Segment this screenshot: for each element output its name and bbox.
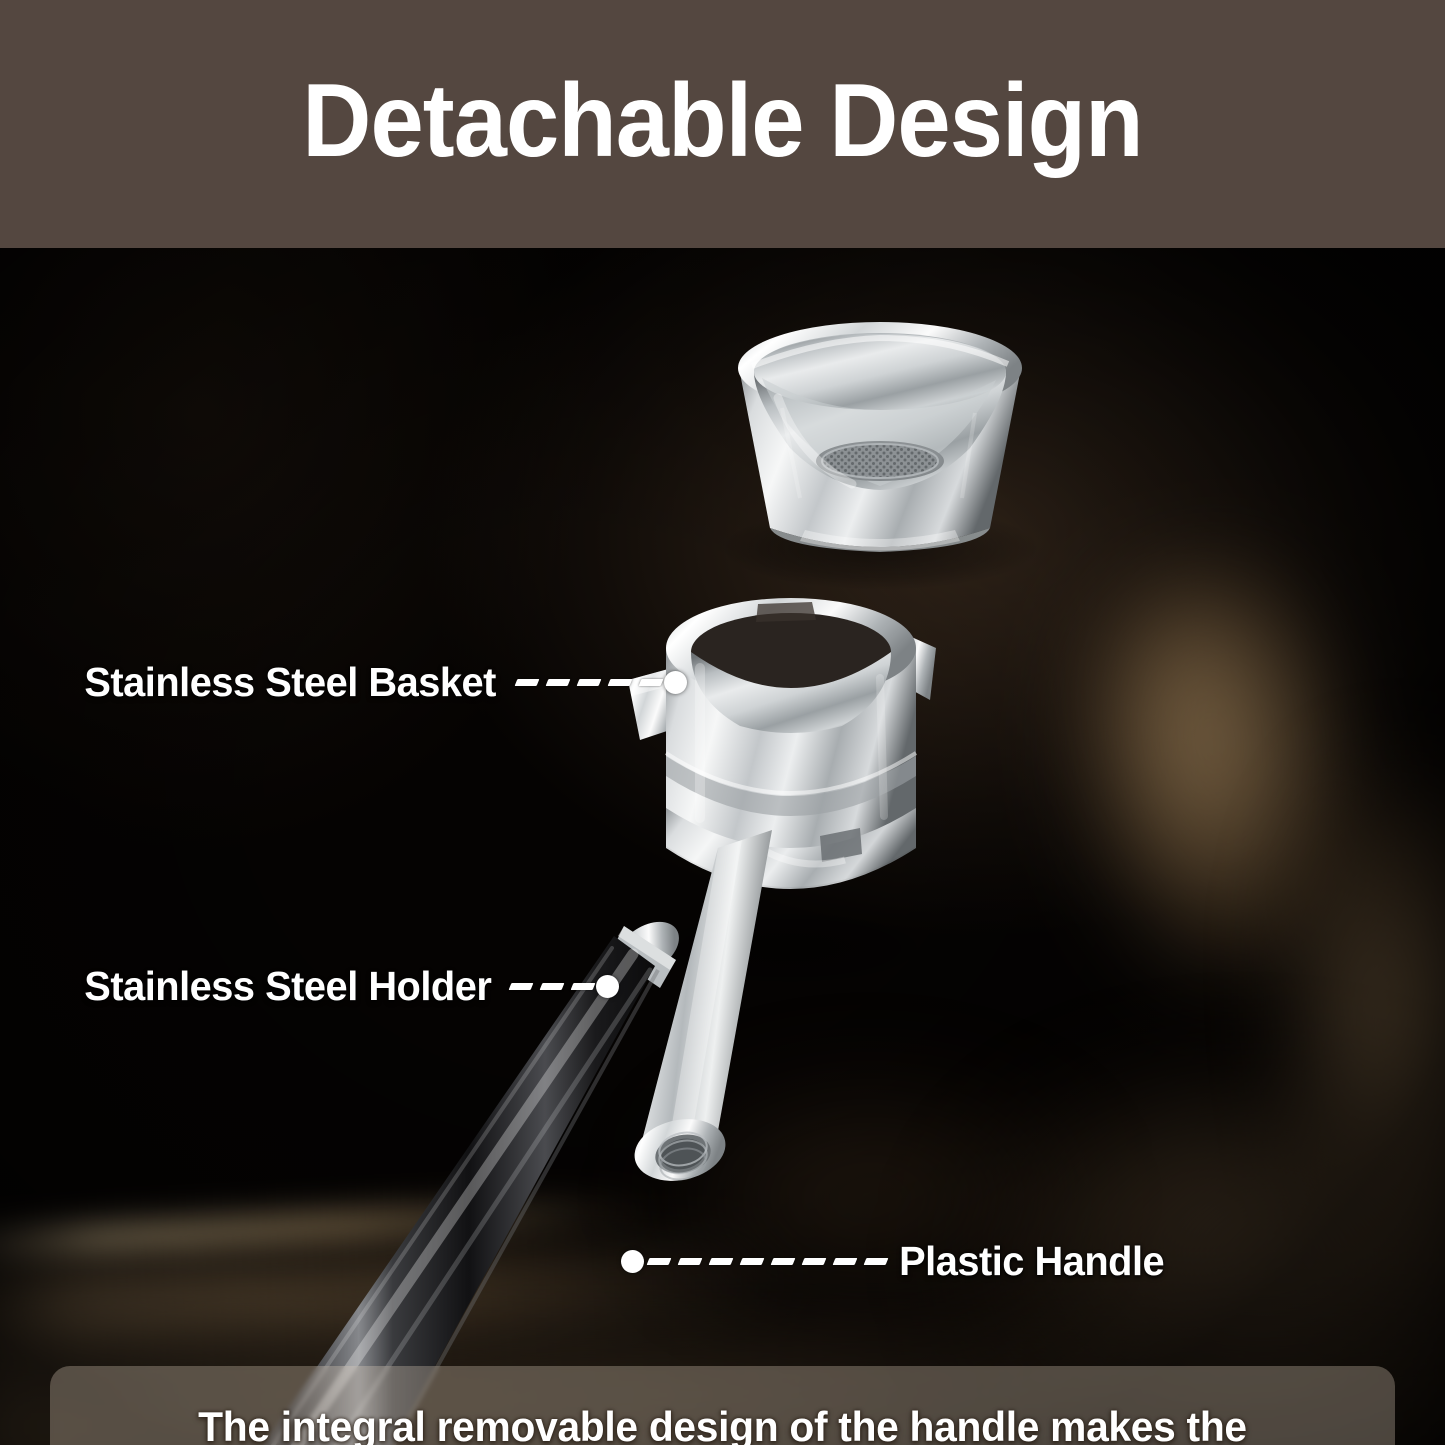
leader-line-basket xyxy=(502,666,687,700)
caption-text: The integral removable design of the han… xyxy=(111,1398,1334,1445)
leader-line-holder xyxy=(498,970,619,1004)
leader-dashes-basket xyxy=(516,666,662,700)
callout-label-basket: Stainless Steel Basket xyxy=(84,662,496,703)
callout-label-handle: Plastic Handle xyxy=(899,1241,1164,1282)
callout-stainless-steel-basket[interactable]: Stainless Steel Basket xyxy=(78,662,687,703)
leader-dot-basket xyxy=(664,671,687,694)
callout-plastic-handle[interactable]: Plastic Handle xyxy=(621,1241,1168,1282)
header-band: Detachable Design xyxy=(0,0,1445,248)
leader-dashes-handle xyxy=(648,1245,887,1279)
leader-line-handle xyxy=(621,1245,895,1279)
caption-panel: The integral removable design of the han… xyxy=(50,1366,1395,1445)
leader-dot-holder xyxy=(596,975,619,998)
callout-stainless-steel-holder[interactable]: Stainless Steel Holder xyxy=(78,966,619,1007)
product-infographic: Stainless Steel Basket Stainless Steel H… xyxy=(0,0,1445,1445)
callout-label-holder: Stainless Steel Holder xyxy=(84,966,491,1007)
leader-dot-handle xyxy=(621,1250,644,1273)
product-photo-area: Stainless Steel Basket Stainless Steel H… xyxy=(0,248,1445,1445)
page-title: Detachable Design xyxy=(58,0,1387,248)
leader-dashes-holder xyxy=(510,970,594,1004)
stainless-steel-basket-part xyxy=(720,322,1040,590)
